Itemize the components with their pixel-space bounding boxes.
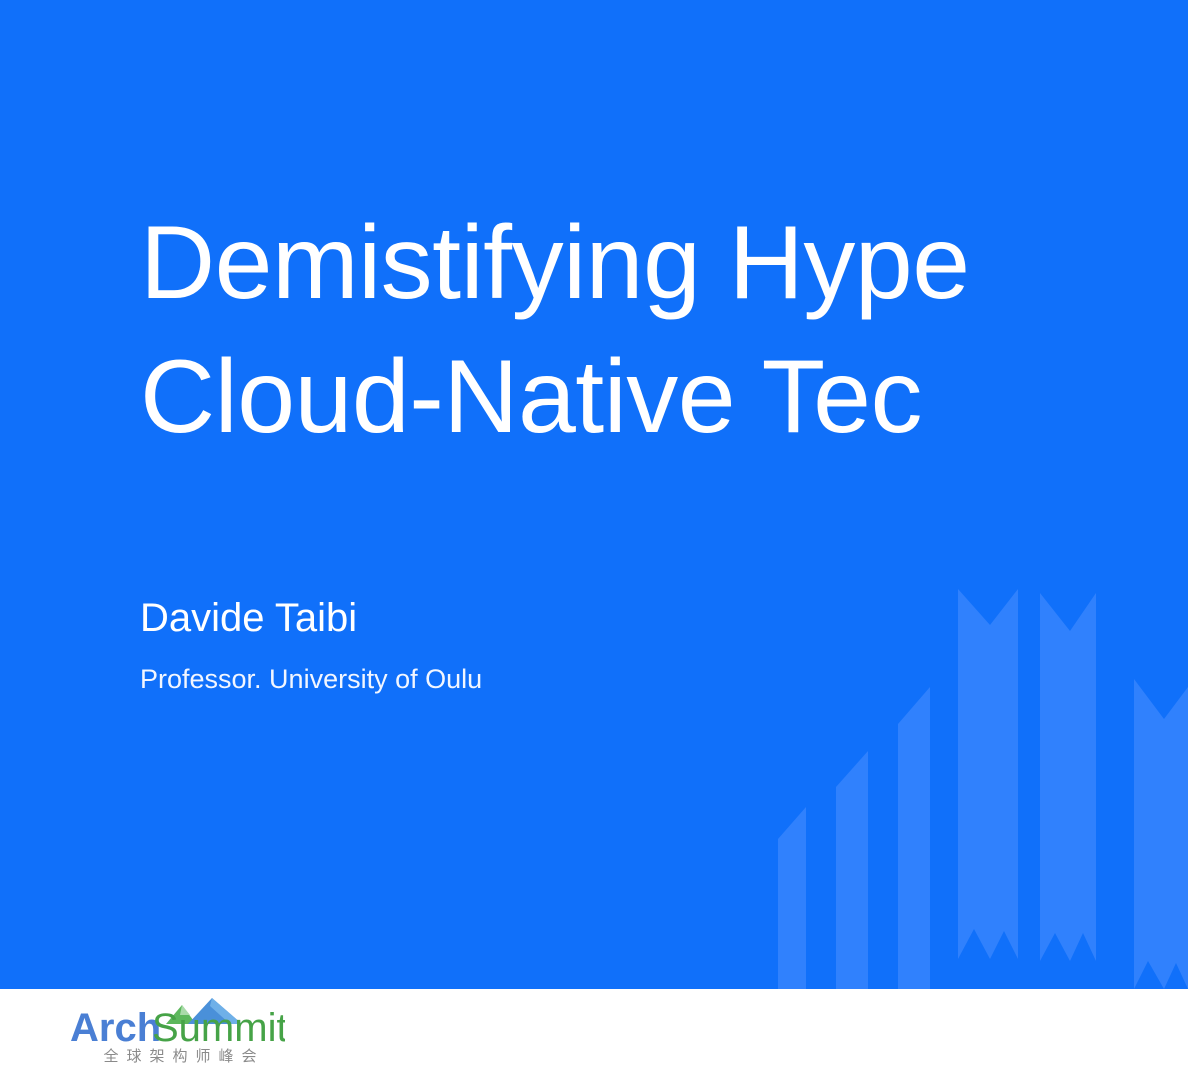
page-title-line-1: Demistifying Hype <box>140 196 970 330</box>
building-tower-2-shaft <box>1070 593 1096 961</box>
building-bar-1 <box>778 807 806 989</box>
logo-word-arch: Arch <box>70 1006 161 1045</box>
page-title-line-2: Cloud-Native Tec <box>140 330 922 464</box>
building-tower-1 <box>958 589 990 959</box>
archsummit-subtitle: 全球架构师峰会 <box>78 1047 290 1067</box>
presentation-slide: Demistifying Hype Cloud-Native Tec David… <box>0 0 1188 1080</box>
building-tower-2 <box>1040 593 1070 961</box>
building-tower-3 <box>1134 679 1164 989</box>
logo-word-summit: Summit <box>152 1006 285 1045</box>
building-group <box>778 589 1188 989</box>
archsummit-logo: Arch Summit 全球架构师峰会 <box>70 997 310 1073</box>
building-bar-2 <box>836 751 868 989</box>
speaker-name: Davide Taibi <box>140 594 357 642</box>
building-tower-3-shaft <box>1164 687 1188 989</box>
skyline-decoration <box>758 569 1188 989</box>
building-bar-3 <box>898 687 930 989</box>
building-tower-1-shaft <box>990 589 1018 959</box>
slide-stage: Demistifying Hype Cloud-Native Tec David… <box>0 0 1188 989</box>
speaker-role: Professor. University of Oulu <box>140 660 482 698</box>
archsummit-wordmark: Arch Summit <box>70 997 285 1045</box>
slide-footer: Arch Summit 全球架构师峰会 <box>0 989 1188 1080</box>
